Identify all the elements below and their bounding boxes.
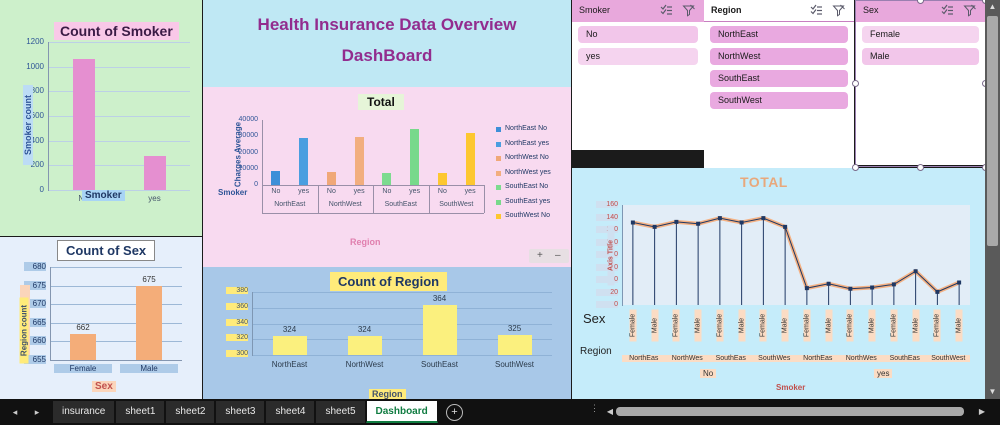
group-separator-total-end [484,185,485,213]
x-tick-total-smoker: yes [456,188,485,195]
plot-area-total-line [622,205,970,305]
clear-filter-icon[interactable] [832,4,845,17]
slicer-title: Region [711,5,742,15]
axis-tick-sex-total-line: Male [651,310,658,342]
slicer-region[interactable]: RegionNorthEastNorthWestSouthEastSouthWe… [704,0,854,168]
dashboard-title-line2: DashBoard [203,46,571,66]
scroll-up-arrow[interactable]: ▲ [985,0,1000,14]
x-tick-total-smoker: No [372,188,401,195]
axis-tick-region-total-line: NorthEas [796,355,840,362]
y-axis-region [252,292,253,356]
bar-total[interactable] [382,173,391,185]
legend-swatch-total [496,214,501,219]
axis-title-smoker-y: Smoker count [23,85,33,165]
bar-total[interactable] [299,138,308,185]
bar-total[interactable] [355,137,364,185]
tab-nav-prev[interactable]: ◂ [4,404,26,420]
x-tick-total-smoker: No [428,188,457,195]
bar-label-region: 324 [332,325,398,334]
gridline-smoker [48,116,190,117]
resize-handle-s[interactable] [917,164,924,171]
axis-title-total-y: Charges Average [234,115,243,195]
x-tick-region: SouthWest [480,360,550,369]
multi-select-icon[interactable] [660,4,673,17]
axis-tick-region-total-line: NorthWes [840,355,884,362]
slicer-item-female[interactable]: Female [862,26,979,43]
slicer-item-southwest[interactable]: SouthWest [710,92,848,109]
y-tick-total-line: 140 [596,214,618,221]
hscroll-right-arrow[interactable]: ▶ [976,405,988,418]
resize-handle-sw[interactable] [852,164,859,171]
y-axis-total [262,120,263,186]
legend-label-total: NorthEast yes [505,140,549,147]
tab-nav-next[interactable]: ▸ [26,404,48,420]
group-separator-total [318,185,319,213]
legend-swatch-total [496,200,501,205]
excel-dashboard-window: Count of Smoker Count of Sex Health Insu… [0,0,1000,425]
gridline-sex [50,267,182,268]
scroll-grip-icon[interactable]: ⋮ [590,406,599,411]
axis-tick-sex-total-line: Female [890,310,897,342]
y-axis-smoker [48,42,49,191]
axis-title-region-y: Region count [20,298,29,364]
axis-title-region-x: Region [369,389,406,399]
y-axis-total-line [622,205,623,306]
slicer-smoker[interactable]: SmokerNoyes [572,0,704,150]
x-tick-total-smoker: yes [400,188,429,195]
bar-total[interactable] [327,172,336,185]
axis-label-smoker-total-line: Smoker [776,383,805,392]
axis-title-total-line-y: Axis Title [608,226,615,286]
slicer-item-no[interactable]: No [578,26,698,43]
y-tick-region: 360 [226,303,248,310]
group-baseline-total [262,213,484,214]
slicer-item-southeast[interactable]: SouthEast [710,70,848,87]
bar-region[interactable] [498,335,532,355]
vertical-scroll-thumb[interactable] [987,16,998,246]
axis-tick-smoker-total-line: yes [874,369,892,378]
axis-title-sex-x: Sex [92,381,116,392]
slicer-title: Sex [863,5,879,15]
sheet-tab-sheet3[interactable]: sheet3 [215,401,265,423]
bar-smoker[interactable] [73,59,95,190]
dashboard-title-panel: Health Insurance Data Overview DashBoard [203,0,571,87]
clear-filter-icon[interactable] [682,4,695,17]
bar-label-region: 364 [407,294,473,303]
gridline-smoker [48,42,190,43]
gridline-region [252,355,552,356]
legend-label-total: NorthWest yes [505,169,551,176]
bar-label-region: 325 [482,324,548,333]
gridline-sex [50,286,182,287]
x-group-label-total: NorthWest [318,201,374,208]
sheet-tab-dashboard[interactable]: Dashboard [366,401,438,423]
legend-swatch-total [496,185,501,190]
legend-label-total: NorthEast No [505,125,547,132]
group-separator-total [429,185,430,213]
bar-smoker[interactable] [144,156,166,190]
slicer-sex[interactable]: SexFemaleMale [856,0,985,165]
zoom-out-icon[interactable]: – [555,249,561,263]
y-tick-region: 300 [226,350,248,357]
legend-label-total: SouthWest No [505,212,550,219]
legend-label-total: NorthWest No [505,154,549,161]
slicer-item-yes[interactable]: yes [578,48,698,65]
group-separator-total [373,185,374,213]
y-tick-smoker: 0 [16,185,44,194]
hscroll-left-arrow[interactable]: ◀ [604,405,616,418]
axis-tick-sex-total-line: Female [760,310,767,342]
bar-label-sex: 675 [120,275,178,284]
add-sheet-button[interactable]: + [446,404,463,421]
chart-zoom-controls[interactable]: + – [529,249,569,263]
axis-tick-sex-total-line: Male [782,310,789,342]
bar-region[interactable] [348,336,382,355]
x-axis-sex [50,360,182,361]
gridline-smoker [48,67,190,68]
legend-swatch-total [496,127,501,132]
y-tick-sex: 680 [24,262,46,271]
axis-tick-sex-total-line: Female [673,310,680,342]
legend-swatch-total [496,171,501,176]
bar-label-region: 324 [257,325,323,334]
x-tick-region: SouthEast [405,360,475,369]
axis-tick-sex-total-line: Male [869,310,876,342]
axis-tick-region-total-line: NorthWes [666,355,710,362]
chart-title-count-of-region: Count of Region [330,272,447,291]
legend-label-total: SouthEast No [505,183,548,190]
dashboard-title-line1: Health Insurance Data Overview [203,15,571,35]
x-tick-sex: Male [120,364,178,373]
slicer-item-northwest[interactable]: NorthWest [710,48,848,65]
y-tick-region: 380 [226,287,248,294]
group-separator-total [262,185,263,213]
horizontal-scrollbar[interactable]: ◀ ▶ [604,405,989,418]
x-tick-sex: Female [54,364,112,373]
axis-label-region-total-line: Region [580,346,612,357]
chart-title-count-of-smoker: Count of Smoker [54,22,179,40]
axis-tick-region-total-line: NorthEas [622,355,666,362]
axis-tick-sex-total-line: Male [956,310,963,342]
multi-select-icon[interactable] [810,4,823,17]
gridline-region [252,292,552,293]
axis-tick-sex-total-line: Male [825,310,832,342]
legend-label-total: SouthEast yes [505,198,550,205]
resize-handle-w[interactable] [852,80,859,87]
axis-tick-sex-total-line: Male [695,310,702,342]
x-tick-region: NorthEast [255,360,325,369]
y-tick-smoker: 1200 [16,37,44,46]
axis-tick-smoker-total-line: No [700,369,716,378]
slicer-header-region: Region [704,0,854,22]
bar-region[interactable] [273,336,307,355]
x-group-label-total: NorthEast [262,201,318,208]
bar-total[interactable] [410,129,419,185]
slicer-title: Smoker [579,5,610,15]
sheet-tab-sheet2[interactable]: sheet2 [165,401,215,423]
axis-title-total-group: Smoker [218,188,247,197]
x-group-label-total: SouthWest [429,201,485,208]
y-tick-total-line: 20 [596,289,618,296]
y-tick-smoker: 1000 [16,62,44,71]
axis-title-total-x: Region [350,237,381,247]
gridline-smoker [48,165,190,166]
y-tick-region: 320 [226,334,248,341]
vertical-scrollbar[interactable]: ▲ ▼ [985,0,1000,399]
x-tick-total-smoker: yes [345,188,374,195]
y-tick-region: 340 [226,319,248,326]
scroll-down-arrow[interactable]: ▼ [985,385,1000,399]
axis-tick-sex-total-line: Female [847,310,854,342]
legend-swatch-total [496,156,501,161]
axis-tick-sex-total-line: Male [912,310,919,342]
bar-total[interactable] [271,171,280,185]
gridline-smoker [48,91,190,92]
sheet-tab-sheet4[interactable]: sheet4 [265,401,315,423]
chart-title-count-of-sex: Count of Sex [57,240,155,261]
bar-region[interactable] [423,305,457,355]
gridline-region [252,308,552,309]
slicer-item-male[interactable]: Male [862,48,979,65]
gridline-sex [50,304,182,305]
bar-sex[interactable] [70,334,96,360]
zoom-in-icon[interactable]: + [537,249,543,263]
x-tick-region: NorthWest [330,360,400,369]
horizontal-scroll-thumb[interactable] [616,407,964,416]
axis-tick-region-total-line: SouthWes [753,355,797,362]
bar-label-sex: 662 [54,323,112,332]
x-tick-total-smoker: yes [289,188,318,195]
axis-tick-sex-total-line: Female [934,310,941,342]
bar-sex[interactable] [136,286,162,360]
bar-total[interactable] [438,173,447,185]
axis-tick-sex-total-line: Female [629,310,636,342]
sheet-tab-bar: ◂ ▸ insurancesheet1sheet2sheet3sheet4she… [0,399,1000,425]
axis-tick-region-total-line: SouthWest [927,355,971,362]
axis-title-smoker-x: Smoker [82,190,125,201]
clear-filter-icon[interactable] [963,4,976,17]
sheet-tab-insurance[interactable]: insurance [52,401,115,423]
x-tick-total-smoker: No [317,188,346,195]
y-axis-sex [50,267,51,361]
axis-tick-sex-total-line: Female [716,310,723,342]
legend-swatch-total [496,142,501,147]
axis-tick-sex-total-line: Female [803,310,810,342]
x-group-label-total: SouthEast [373,201,429,208]
x-tick-total-smoker: No [261,188,290,195]
y-tick-total-line: 0 [596,301,618,308]
sheet-tab-sheet1[interactable]: sheet1 [115,401,165,423]
slicer-item-northeast[interactable]: NorthEast [710,26,848,43]
axis-tick-sex-total-line: Male [738,310,745,342]
slicer-header-smoker: Smoker [572,0,704,22]
axis-tick-region-total-line: SouthEas [709,355,753,362]
y-tick-total-line: 160 [596,201,618,208]
chart-title-total: Total [358,94,404,110]
chart-title-total-line: TOTAL [740,174,788,190]
x-tick-smoker: yes [128,194,182,203]
sheet-tab-sheet5[interactable]: sheet5 [315,401,365,423]
multi-select-icon[interactable] [941,4,954,17]
axis-label-sex-total-line: Sex [583,311,605,326]
gridline-smoker [48,141,190,142]
bar-total[interactable] [466,133,475,185]
axis-tick-region-total-line: SouthEas [883,355,927,362]
